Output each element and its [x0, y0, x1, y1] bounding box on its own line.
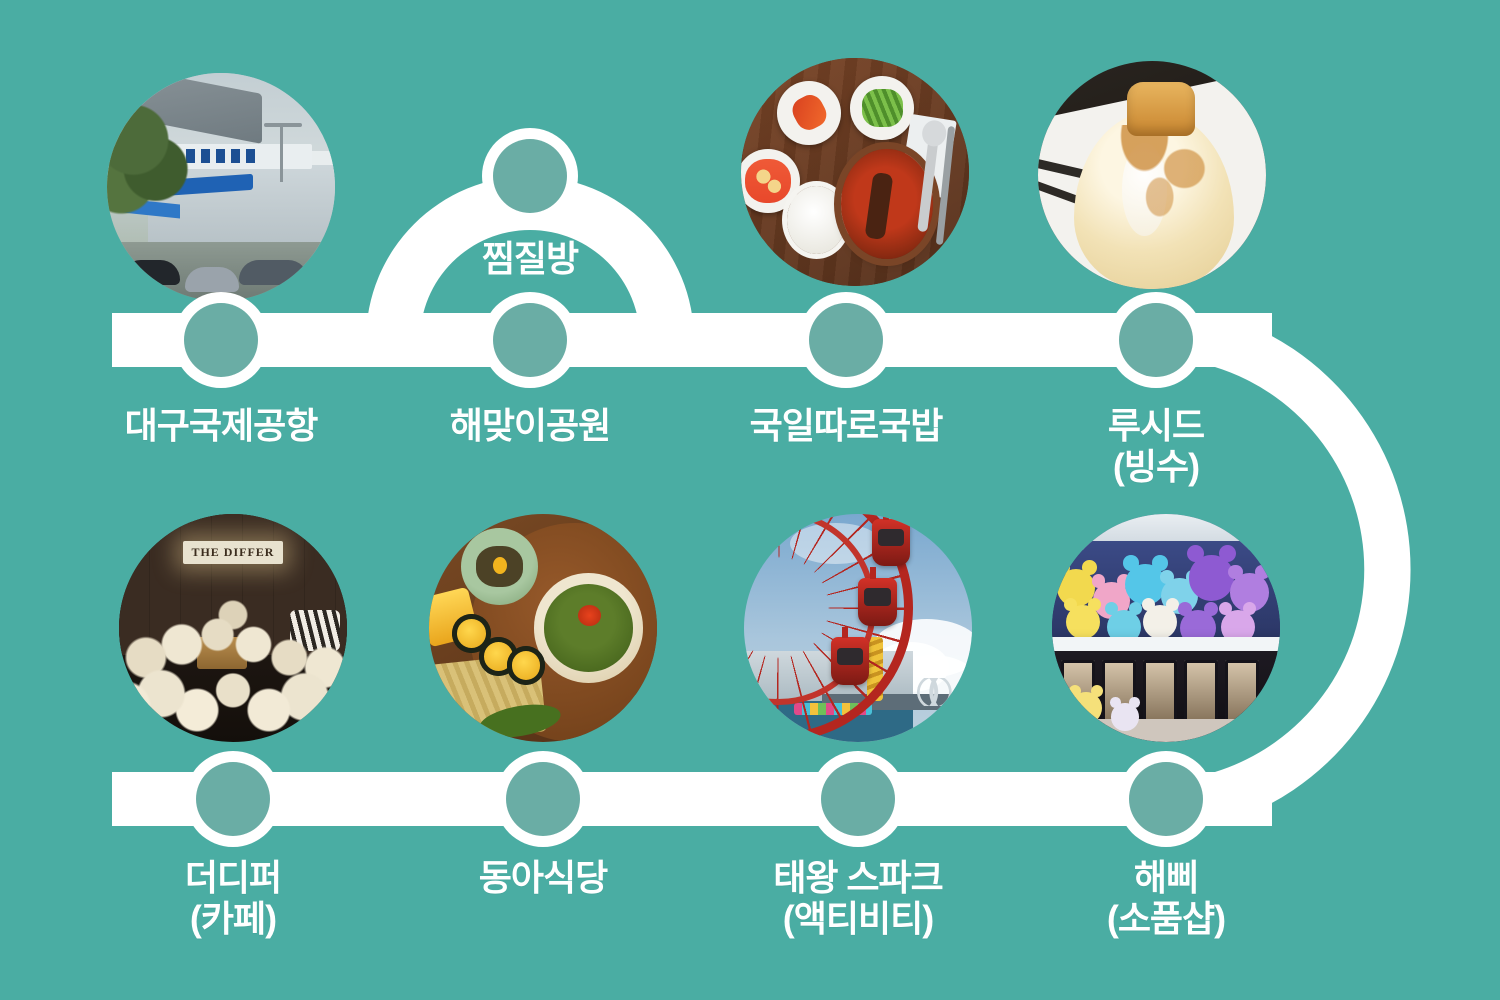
airport-photo [107, 73, 335, 301]
plushshop-photo [1052, 514, 1280, 742]
stop-label-3: 국일따로국밥 [750, 405, 943, 446]
route-node-stop-4[interactable] [1108, 292, 1204, 388]
stop-label-5: 더디퍼 (카페) [185, 857, 281, 939]
route-node-stop-6[interactable] [495, 751, 591, 847]
stop-label-6: 동아식당 [479, 857, 607, 898]
gimbap-photo [429, 514, 657, 742]
differ-photo: THE DIFFER [119, 514, 347, 742]
route-node-stop-7[interactable] [810, 751, 906, 847]
soup-photo [741, 58, 969, 286]
stop-label-7: 태왕 스파크 (액티비티) [773, 857, 943, 939]
route-bar-row2 [112, 772, 1272, 826]
route-node-detour[interactable] [482, 128, 578, 224]
route-node-stop-1[interactable] [173, 292, 269, 388]
route-node-stop-5[interactable] [185, 751, 281, 847]
route-node-stop-3[interactable] [798, 292, 894, 388]
itinerary-route-map: 대구국제공항 찜질방 해맞이공원 국일따로국밥 루시드 (빙수) [0, 0, 1500, 1000]
bingsu-photo [1038, 61, 1266, 289]
ferriswheel-photo [744, 514, 972, 742]
route-node-stop-2[interactable] [482, 292, 578, 388]
route-node-stop-8[interactable] [1118, 751, 1214, 847]
detour-label: 찜질방 [482, 230, 578, 282]
stop-label-2: 해맞이공원 [450, 405, 611, 446]
stop-label-4: 루시드 (빙수) [1108, 405, 1204, 487]
stop-label-8: 해삐 (소품샵) [1107, 857, 1225, 939]
differ-sign-text: THE DIFFER [191, 545, 274, 560]
stop-label-1: 대구국제공항 [125, 405, 318, 446]
